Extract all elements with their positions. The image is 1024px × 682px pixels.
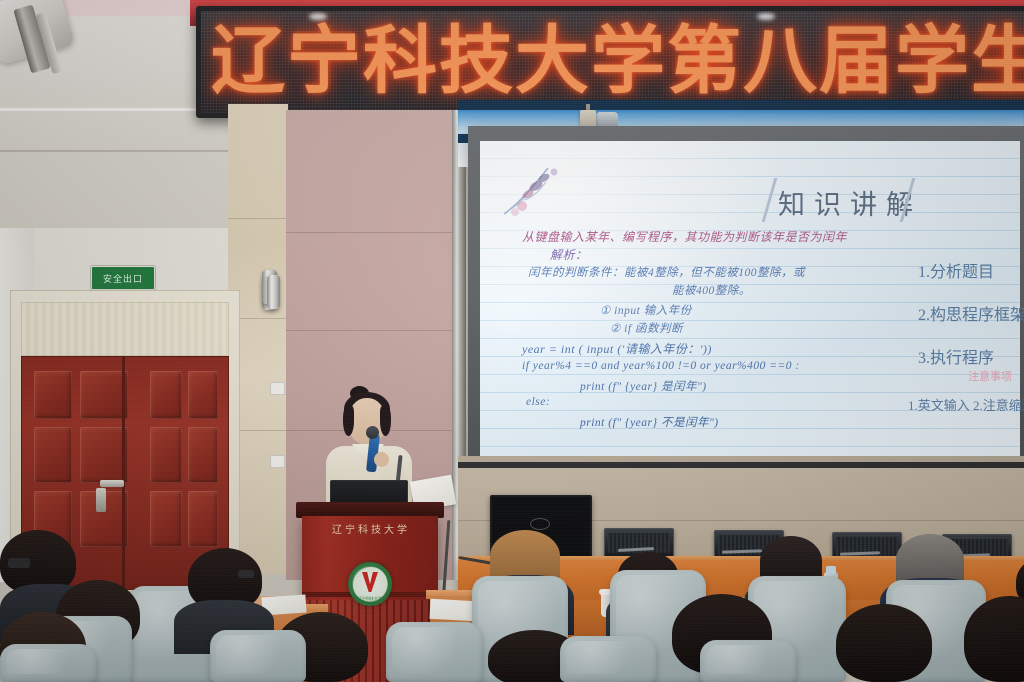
wall-sconce-lower <box>267 275 280 309</box>
person-head <box>836 604 932 682</box>
handwriting-line: else: <box>526 396 550 408</box>
handwriting-line: print (f" {year} 是闰年") <box>580 378 707 394</box>
presenter-hand <box>374 452 389 467</box>
ceiling-light-reflection-1 <box>309 13 327 20</box>
slide-note-text: 1.英文输入 2.注意缩进 <box>908 395 1024 414</box>
handwriting-line: ① input 输入年份 <box>600 302 692 318</box>
slide-note-heading: 注意事项 <box>968 368 1012 384</box>
handwriting-line: 从键盘输入某年、编写程序，其功能为判断该年是否为闰年 <box>522 228 847 245</box>
floral-decoration-icon <box>498 160 576 222</box>
lecture-hall-photo: 辽宁科技大学第八届学生课堂 安全出口 <box>0 0 1024 682</box>
door-panel <box>150 371 182 419</box>
door-transom <box>21 302 229 356</box>
door-panel <box>80 371 128 419</box>
door-center-seam <box>122 356 125 588</box>
door-handle[interactable] <box>100 480 124 487</box>
handwriting-line: print (f" {year} 不是闰年") <box>580 414 719 430</box>
eyeglasses-icon <box>238 570 254 578</box>
door-lock-plate[interactable] <box>96 488 106 512</box>
presenter-hair-right <box>380 406 391 436</box>
backdrop-top-shadow <box>458 100 1024 110</box>
exit-sign-label: 安全出口 <box>92 267 154 289</box>
slide-step-item: 3.执行程序 <box>918 344 1024 368</box>
door-panel <box>150 491 182 547</box>
door-panel <box>34 427 72 483</box>
handwriting-line: 能被400整除。 <box>672 282 751 298</box>
audience-seat <box>560 636 656 682</box>
panel-joint-2 <box>286 330 458 331</box>
podium-nameplate-text: 辽宁科技大学 <box>310 521 432 536</box>
handwriting-line: ② if 函数判断 <box>610 320 683 336</box>
door-panel <box>80 427 128 483</box>
light-switch-upper[interactable] <box>270 382 285 395</box>
exit-sign: 安全出口 <box>90 265 156 291</box>
door-panel <box>150 427 182 483</box>
panel-joint-1 <box>286 232 458 233</box>
handwriting-line: year = int ( input ('请输入年份：')) <box>522 340 712 357</box>
door-panel <box>188 491 218 547</box>
ceiling-light-reflection-2 <box>757 13 775 20</box>
door-panel <box>188 371 218 419</box>
dell-logo-icon <box>530 518 550 530</box>
slide-handwriting-block: 从键盘输入某年、编写程序，其功能为判断该年是否为闰年 解析： 闰年的判断条件：能… <box>522 228 922 428</box>
handwriting-line: 解析： <box>550 246 588 263</box>
door-panel <box>188 427 218 483</box>
audience-seat <box>386 622 482 682</box>
led-banner-text: 辽宁科技大学第八届学生课堂 <box>211 15 1024 107</box>
marble-joint-1 <box>228 218 288 219</box>
handwriting-line: if year%4 ==0 and year%100 !=0 or year%4… <box>522 360 800 372</box>
water-bottle-cap <box>826 566 836 574</box>
handwriting-line: 闰年的判断条件：能被4整除，但不能被100整除，或 <box>528 264 805 280</box>
slide-step-item: 2.构思程序框架 <box>918 301 1024 325</box>
light-switch-lower[interactable] <box>270 455 285 468</box>
door-panel <box>34 371 72 419</box>
slide-step-item: 1.分析题目 <box>918 258 1024 282</box>
presenter-hair-left <box>343 406 354 436</box>
audience-seat <box>700 640 796 682</box>
emblem-text: 辽宁科技大学 <box>352 596 388 602</box>
eyeglasses-icon <box>8 558 30 568</box>
front-desk-paper <box>430 599 477 621</box>
audience-seat <box>210 630 306 682</box>
audience-seat <box>0 644 96 682</box>
